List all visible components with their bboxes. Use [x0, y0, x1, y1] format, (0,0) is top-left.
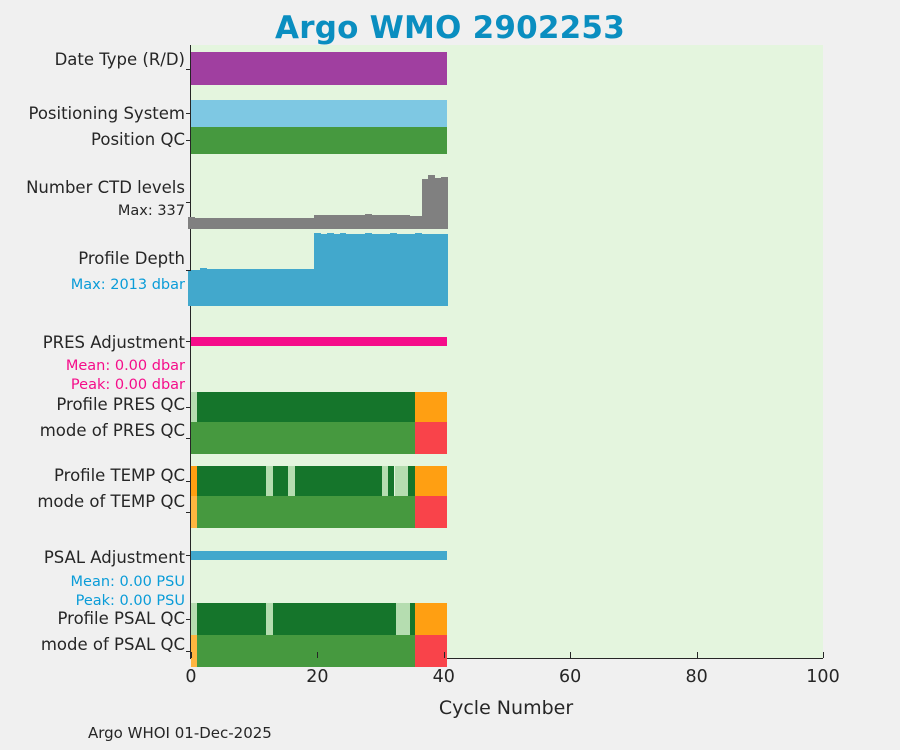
track-segment	[266, 603, 273, 635]
x-tick-label: 60	[559, 667, 581, 687]
y-tick	[186, 512, 191, 513]
track-segment	[266, 466, 273, 496]
y-label-mode-psal-qc: mode of PSAL QC	[41, 636, 185, 653]
x-tick-label: 40	[433, 667, 455, 687]
y-label-date-type: Date Type (R/D)	[55, 51, 185, 68]
x-axis-title: Cycle Number	[190, 697, 822, 719]
y-tick	[186, 555, 191, 556]
x-tick-label: 0	[185, 667, 196, 687]
x-tick	[444, 652, 445, 658]
track-segment	[415, 466, 447, 496]
footer-credit: Argo WHOI 01-Dec-2025	[88, 724, 272, 742]
track-segment	[191, 127, 447, 154]
annotation-max-ctd-levels: Max: 337	[118, 204, 185, 219]
y-label-profile-psal-qc: Profile PSAL QC	[57, 610, 185, 627]
track-pres-adjustment	[191, 337, 823, 346]
y-label-position-qc: Position QC	[91, 131, 185, 148]
track-mode-of-pres-qc	[191, 422, 823, 454]
y-tick	[186, 270, 191, 271]
y-label-profile-pres-qc: Profile PRES QC	[56, 396, 185, 413]
plot-area: 020406080100	[190, 45, 823, 659]
y-label-psal-adjustment: PSAL Adjustment	[44, 549, 185, 566]
y-tick	[186, 202, 191, 203]
y-tick	[186, 113, 191, 114]
track-segment	[197, 466, 266, 496]
histogram-bar	[441, 177, 448, 229]
track-segment	[415, 422, 447, 454]
y-label-number-ctd-levels: Number CTD levels	[26, 179, 185, 196]
track-segment	[197, 635, 414, 667]
track-segment	[191, 100, 447, 127]
track-profile-depth	[191, 233, 823, 306]
track-segment	[415, 603, 447, 635]
y-label-mode-temp-qc: mode of TEMP QC	[37, 493, 185, 510]
y-tick	[186, 140, 191, 141]
track-position-qc	[191, 127, 823, 154]
track-segment	[415, 635, 447, 667]
y-tick	[186, 341, 191, 342]
y-label-profile-temp-qc: Profile TEMP QC	[54, 467, 185, 484]
x-tick	[317, 652, 318, 658]
annotation-psal-mean: Mean: 0.00 PSU	[71, 575, 185, 590]
y-tick	[186, 651, 191, 652]
argo-summary-chart: Argo WMO 2902253 Date Type (R/D) Positio…	[0, 0, 900, 750]
y-tick	[186, 619, 191, 620]
track-segment	[415, 392, 447, 422]
track-segment	[415, 496, 447, 528]
track-segment	[197, 496, 414, 528]
y-tick	[186, 69, 191, 70]
annotation-psal-peak: Peak: 0.00 PSU	[76, 594, 185, 609]
annotation-pres-peak: Peak: 0.00 dbar	[71, 378, 185, 393]
track-mode-of-psal-qc	[191, 635, 823, 667]
y-tick	[186, 481, 191, 482]
track-mode-of-temp-qc	[191, 496, 823, 528]
y-axis-label-column: Date Type (R/D) Positioning System Posit…	[0, 0, 185, 750]
y-label-positioning-system: Positioning System	[28, 105, 185, 122]
y-label-pres-adjustment: PRES Adjustment	[43, 334, 185, 351]
track-segment	[396, 603, 410, 635]
y-tick	[186, 438, 191, 439]
track-segment	[197, 603, 266, 635]
y-tick	[186, 407, 191, 408]
x-tick	[191, 652, 192, 658]
track-date-type-r-d	[191, 52, 823, 85]
track-profile-pres-qc	[191, 392, 823, 422]
x-tick	[697, 652, 698, 658]
annotation-max-profile-depth: Max: 2013 dbar	[71, 278, 185, 293]
track-segment	[197, 392, 415, 422]
x-tick-label: 80	[685, 667, 707, 687]
track-profile-psal-qc	[191, 603, 823, 635]
y-label-mode-pres-qc: mode of PRES QC	[40, 422, 185, 439]
track-number-ctd-levels	[191, 175, 823, 229]
track-segment	[191, 52, 447, 85]
histogram-bar	[441, 234, 448, 306]
plot-inner	[191, 45, 823, 658]
y-label-profile-depth: Profile Depth	[78, 250, 185, 267]
annotation-pres-mean: Mean: 0.00 dbar	[66, 359, 185, 374]
x-tick-label: 20	[306, 667, 328, 687]
x-tick	[823, 652, 824, 658]
track-segment	[395, 466, 409, 496]
track-profile-temp-qc	[191, 466, 823, 496]
track-segment	[273, 603, 396, 635]
track-segment	[388, 466, 395, 496]
x-tick-label: 100	[806, 667, 839, 687]
track-segment	[273, 466, 288, 496]
track-segment	[191, 337, 447, 346]
x-tick	[570, 652, 571, 658]
track-segment	[191, 551, 447, 560]
track-positioning-system	[191, 100, 823, 127]
track-segment	[295, 466, 382, 496]
track-psal-adjustment	[191, 551, 823, 560]
track-segment	[191, 422, 415, 454]
